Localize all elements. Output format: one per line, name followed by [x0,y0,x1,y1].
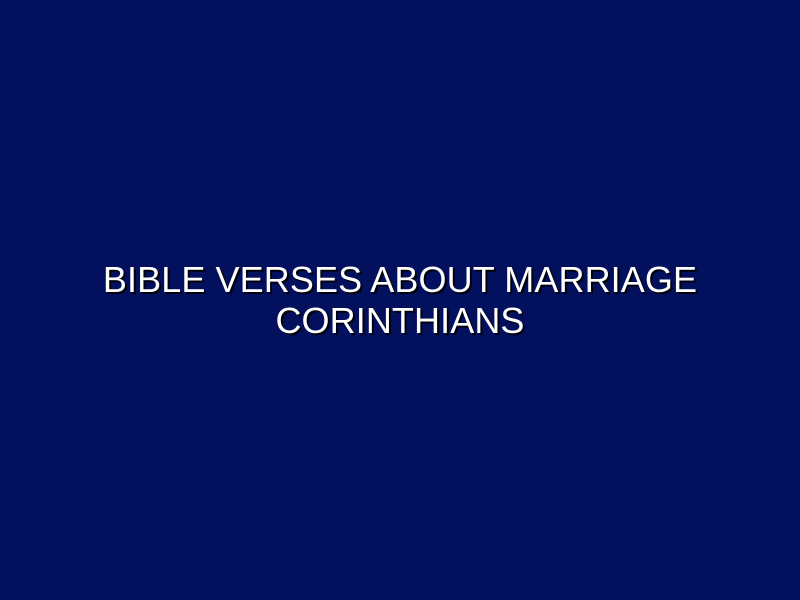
title-card: BIBLE VERSES ABOUT MARRIAGE CORINTHIANS [0,0,800,600]
page-title: BIBLE VERSES ABOUT MARRIAGE CORINTHIANS [80,259,720,341]
